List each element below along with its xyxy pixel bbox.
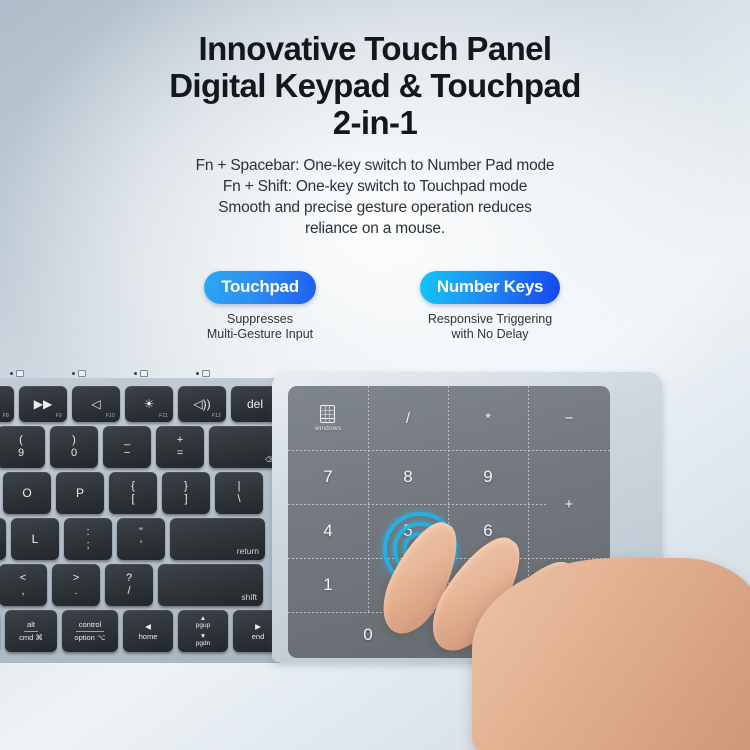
arrow-up-icon: ▲ pgup bbox=[196, 615, 210, 629]
mute-key[interactable]: ◁ F10 bbox=[72, 386, 120, 422]
key-period[interactable]: > . bbox=[52, 564, 100, 606]
fast-forward-key[interactable]: ▶▶ F9 bbox=[19, 386, 67, 422]
key-equals[interactable]: + = bbox=[156, 426, 204, 468]
caption-line-1: Suppresses bbox=[175, 312, 345, 327]
led-indicator-bluetooth bbox=[134, 370, 148, 377]
key-dual-label: | \ bbox=[237, 481, 240, 505]
key-label: P bbox=[76, 487, 84, 499]
keyboard-body: ▶‖ F8 ▶▶ F9 ◁ F10 ☀ F11 ◁)) F12 del bbox=[0, 378, 287, 663]
backspace-key[interactable]: ⌫ bbox=[209, 426, 281, 468]
subtitle-line-1: Fn + Spacebar: One-key switch to Number … bbox=[0, 155, 750, 176]
key-dual-label: < , bbox=[20, 573, 26, 597]
key-dual-label: ( 9 bbox=[18, 435, 24, 459]
subtitle-block: Fn + Spacebar: One-key switch to Number … bbox=[0, 155, 750, 239]
product-marketing-banner: Innovative Touch Panel Digital Keypad & … bbox=[0, 0, 750, 750]
key-l[interactable]: L bbox=[11, 518, 59, 560]
badge-number-keys: Number Keys bbox=[420, 271, 560, 304]
key-o[interactable]: O bbox=[3, 472, 51, 514]
key-semicolon[interactable]: : ; bbox=[64, 518, 112, 560]
key-8[interactable]: 8 bbox=[368, 450, 448, 504]
key-minus[interactable]: _ − bbox=[103, 426, 151, 468]
key-dual-label: control option ⌥ bbox=[74, 620, 105, 642]
key-dual-label: alt cmd ⌘ bbox=[19, 620, 43, 642]
pgup-pgdn-key[interactable]: ▲ pgup ▼ pgdn bbox=[178, 610, 228, 652]
key-dual-label: ▶ end bbox=[252, 621, 265, 642]
key-dual-label: + = bbox=[177, 435, 183, 459]
calculator-icon: windows bbox=[315, 405, 341, 432]
subtitle-line-2: Fn + Shift: One-key switch to Touchpad m… bbox=[0, 176, 750, 197]
caption-line-1: Responsive Triggering bbox=[405, 312, 575, 327]
key-dual-label: " ' bbox=[139, 527, 143, 551]
key-9[interactable]: ( 9 bbox=[0, 426, 45, 468]
key-comma[interactable]: < , bbox=[0, 564, 47, 606]
key-minus[interactable]: − bbox=[528, 386, 610, 450]
key-divide[interactable]: / bbox=[368, 386, 448, 450]
key-0[interactable]: ) 0 bbox=[50, 426, 98, 468]
key-slash[interactable]: ? / bbox=[105, 564, 153, 606]
key-k[interactable]: K bbox=[0, 518, 6, 560]
feature-touchpad-caption: Suppresses Multi-Gesture Input bbox=[175, 312, 345, 342]
key-fn-label: F11 bbox=[159, 413, 168, 419]
key-dual-label: { [ bbox=[131, 481, 135, 505]
key-bracket-right[interactable]: } ] bbox=[162, 472, 210, 514]
key-quote[interactable]: " ' bbox=[117, 518, 165, 560]
feature-number-keys-caption: Responsive Triggering with No Delay bbox=[405, 312, 575, 342]
key-p[interactable]: P bbox=[56, 472, 104, 514]
key-fn-label: F12 bbox=[212, 413, 221, 419]
feature-badges: Touchpad Suppresses Multi-Gesture Input … bbox=[0, 271, 750, 342]
key-dual-label: ◀ home bbox=[139, 621, 158, 642]
key-glyph: ◁)) bbox=[193, 398, 210, 410]
led-indicator-battery bbox=[196, 370, 210, 377]
led-indicator-caps bbox=[10, 370, 24, 377]
hand-illustration bbox=[352, 500, 750, 750]
arrow-right-icon: ▶ bbox=[255, 621, 261, 631]
headline-line-1: Innovative Touch Panel bbox=[0, 30, 750, 67]
headline-line-2: Digital Keypad & Touchpad bbox=[0, 67, 750, 104]
key-label: shift bbox=[241, 592, 257, 602]
page-title: Innovative Touch Panel Digital Keypad & … bbox=[0, 30, 750, 141]
key-backslash[interactable]: | \ bbox=[215, 472, 263, 514]
arrow-down-icon: ▼ pgdn bbox=[196, 633, 210, 647]
palm bbox=[472, 558, 750, 750]
play-pause-key[interactable]: ▶‖ F8 bbox=[0, 386, 14, 422]
key-9[interactable]: 9 bbox=[448, 450, 528, 504]
key-fn-label: F9 bbox=[56, 413, 62, 419]
control-option-key[interactable]: control option ⌥ bbox=[62, 610, 118, 652]
caption-line-2: Multi-Gesture Input bbox=[175, 327, 345, 342]
key-dual-label: ? / bbox=[126, 573, 132, 597]
feature-touchpad: Touchpad Suppresses Multi-Gesture Input bbox=[175, 271, 345, 342]
caption-line-2: with No Delay bbox=[405, 327, 575, 342]
key-glyph: ▶▶ bbox=[34, 398, 52, 410]
volume-up-key[interactable]: ◁)) F12 bbox=[178, 386, 226, 422]
brightness-key[interactable]: ☀ F11 bbox=[125, 386, 173, 422]
icon-caption: windows bbox=[315, 425, 341, 432]
key-7[interactable]: 7 bbox=[288, 450, 368, 504]
key-grid: ▶‖ F8 ▶▶ F9 ◁ F10 ☀ F11 ◁)) F12 del bbox=[0, 378, 287, 663]
calculator-windows-key[interactable]: windows bbox=[288, 386, 368, 450]
badge-touchpad: Touchpad bbox=[204, 271, 316, 304]
key-dual-label: } ] bbox=[184, 481, 188, 505]
arrow-left-home-key[interactable]: ◀ home bbox=[123, 610, 173, 652]
feature-number-keys: Number Keys Responsive Triggering with N… bbox=[405, 271, 575, 342]
key-fn-label: F10 bbox=[106, 413, 115, 419]
alt-cmd-key[interactable]: alt cmd ⌘ bbox=[5, 610, 57, 652]
headline-line-3: 2-in-1 bbox=[0, 104, 750, 141]
key-bracket-left[interactable]: { [ bbox=[109, 472, 157, 514]
key-label: L bbox=[32, 533, 39, 545]
key-fn-label: F8 bbox=[3, 413, 9, 419]
shift-key[interactable]: shift bbox=[158, 564, 263, 606]
key-label: O bbox=[22, 487, 31, 499]
subtitle-line-4: reliance on a mouse. bbox=[0, 218, 750, 239]
key-label: return bbox=[237, 546, 259, 556]
key-glyph: ◁ bbox=[91, 398, 100, 410]
key-dual-label: ) 0 bbox=[71, 435, 77, 459]
key-dual-label: > . bbox=[73, 573, 79, 597]
key-dual-label: : ; bbox=[86, 527, 89, 551]
key-multiply[interactable]: * bbox=[448, 386, 528, 450]
key-dual-label: _ − bbox=[124, 435, 130, 459]
key-label: del bbox=[247, 398, 263, 410]
arrow-left-icon: ◀ bbox=[145, 621, 151, 631]
return-key[interactable]: return bbox=[170, 518, 265, 560]
led-indicator-num bbox=[72, 370, 86, 377]
key-glyph: ☀ bbox=[144, 398, 155, 410]
subtitle-line-3: Smooth and precise gesture operation red… bbox=[0, 197, 750, 218]
